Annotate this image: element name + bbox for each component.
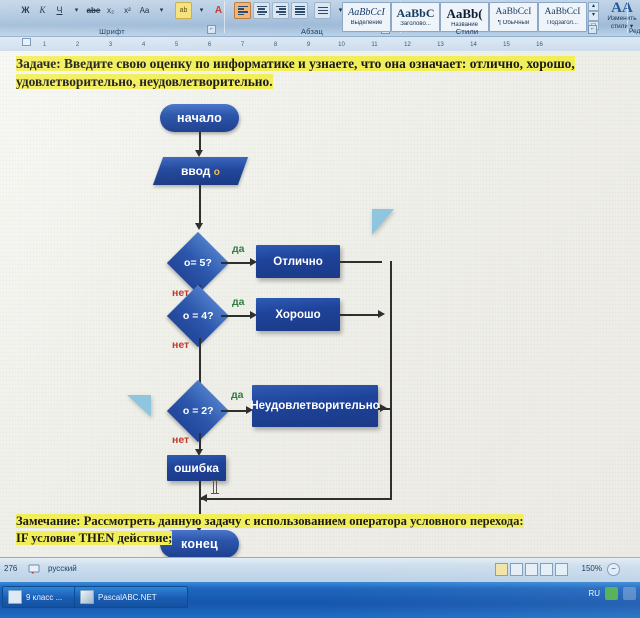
change-styles-icon: AA bbox=[600, 1, 640, 15]
document-page[interactable]: Задаче: Введите свою оценку по информати… bbox=[0, 51, 640, 557]
view-mode-buttons[interactable] bbox=[495, 563, 568, 576]
pascalabc-icon bbox=[80, 590, 94, 604]
align-center-icon[interactable] bbox=[253, 2, 270, 19]
word-count[interactable]: 276 bbox=[4, 564, 17, 573]
ribbon-group-label-styles: Стили bbox=[342, 27, 592, 36]
style-label: ¶ Обычный bbox=[498, 20, 529, 26]
tray-status-icon[interactable] bbox=[605, 587, 618, 600]
ruler-tick-10: 10 bbox=[325, 42, 358, 48]
connector-start-to-input bbox=[199, 132, 201, 152]
ruler-tick-1: 1 bbox=[28, 42, 61, 48]
edge-label-yes-3: да bbox=[231, 389, 244, 401]
arrowhead-right-icon bbox=[378, 310, 385, 318]
taskbar: 9 класс ... PascalABC.NET RU bbox=[0, 582, 640, 618]
font-dialog-launcher-icon[interactable]: ⌐ bbox=[207, 25, 216, 34]
subscript-icon[interactable]: x₂ bbox=[103, 3, 118, 18]
flow-node-unsatisfactory[interactable]: Неудовлетворительно bbox=[252, 385, 378, 427]
ruler-tick-9: 9 bbox=[292, 42, 325, 48]
ribbon-group-label-editing: Ред bbox=[629, 28, 640, 35]
connector-excellent-to-merge bbox=[340, 261, 382, 263]
ruler-tick-11: 11 bbox=[358, 42, 391, 48]
callout-none-matched-tail-icon bbox=[127, 395, 151, 417]
task-prefix: Задаче: bbox=[16, 56, 64, 71]
arrowhead-down-icon bbox=[195, 223, 203, 230]
callout-choice-tail-icon bbox=[372, 209, 394, 235]
connector-decision3-yes bbox=[221, 410, 249, 412]
scroll-up-icon[interactable]: ▴ bbox=[588, 2, 599, 11]
edge-label-yes-2: да bbox=[232, 296, 245, 308]
flow-node-good-label: Хорошо bbox=[275, 309, 320, 321]
scroll-down-icon[interactable]: ▾ bbox=[588, 11, 599, 20]
tray-network-icon[interactable] bbox=[623, 587, 636, 600]
ruler-tick-7: 7 bbox=[226, 42, 259, 48]
flow-node-error[interactable]: ошибка bbox=[167, 455, 226, 481]
taskbar-item-word[interactable]: 9 класс ... bbox=[2, 586, 82, 608]
callout-none-matched-line1: ни один bbox=[31, 115, 82, 134]
flow-node-error-label: ошибка bbox=[174, 461, 219, 475]
bold-icon[interactable]: Ж bbox=[18, 3, 33, 18]
view-full-screen-reading-icon[interactable] bbox=[510, 563, 523, 576]
ribbon-group-styles: AaBbCcI Выделение AaBbC Заголово... AaBb… bbox=[402, 0, 627, 36]
connector-good-to-merge bbox=[340, 314, 382, 316]
align-right-icon[interactable] bbox=[272, 2, 289, 19]
ruler-tick-5: 5 bbox=[160, 42, 193, 48]
proofing-errors-icon[interactable] bbox=[28, 563, 41, 575]
edge-label-no-2: нет bbox=[172, 339, 189, 351]
italic-icon[interactable]: К bbox=[35, 3, 50, 18]
style-sample: AaBbCcI bbox=[545, 8, 581, 18]
flow-node-start-label: начало bbox=[177, 111, 222, 125]
style-label: Выделение bbox=[351, 20, 383, 26]
flow-node-input[interactable]: ввод о bbox=[153, 157, 248, 185]
arrowhead-left-icon bbox=[200, 494, 207, 502]
connector-decision2-yes bbox=[221, 315, 253, 317]
taskbar-item-pascalabc-label: PascalABC.NET bbox=[98, 593, 157, 602]
style-sample: AaBbC bbox=[396, 7, 434, 19]
ruler-marks: 1 2 3 4 5 6 7 8 9 10 11 12 13 14 15 16 bbox=[28, 37, 556, 52]
word-icon bbox=[8, 590, 22, 604]
view-print-layout-icon[interactable] bbox=[495, 563, 508, 576]
text-highlight-icon[interactable]: ab bbox=[175, 2, 192, 19]
status-bar: 276 русский 150% − bbox=[0, 557, 640, 583]
ruler-tick-16: 16 bbox=[523, 42, 556, 48]
view-outline-icon[interactable] bbox=[540, 563, 553, 576]
connector-merge-bus bbox=[390, 261, 392, 499]
connector-decision2-no bbox=[199, 338, 201, 387]
view-draft-icon[interactable] bbox=[555, 563, 568, 576]
taskbar-item-pascalabc[interactable]: PascalABC.NET bbox=[74, 586, 188, 608]
language-indicator[interactable]: русский bbox=[48, 564, 77, 573]
underline-icon[interactable]: Ч bbox=[52, 3, 67, 18]
ruler-tick-14: 14 bbox=[457, 42, 490, 48]
flow-node-excellent[interactable]: Отлично bbox=[256, 245, 340, 278]
callout-none-matched-line2: вариант не bbox=[21, 134, 92, 153]
connector-merge-to-end bbox=[200, 498, 392, 500]
flow-node-excellent-label: Отлично bbox=[273, 256, 322, 268]
callout-none-matched-line3: подошел bbox=[27, 153, 85, 172]
ribbon-divider bbox=[224, 1, 225, 33]
change-case-icon[interactable]: Aa bbox=[137, 3, 152, 18]
arrowhead-right-icon bbox=[380, 404, 387, 412]
taskbar-item-word-label: 9 класс ... bbox=[26, 593, 62, 602]
flow-node-decision-2-label: о = 2? bbox=[183, 405, 214, 417]
connector-decision1-yes bbox=[221, 262, 253, 264]
ruler-tick-3: 3 bbox=[94, 42, 127, 48]
ruler-tick-15: 15 bbox=[490, 42, 523, 48]
flow-node-input-variable: о bbox=[214, 167, 220, 178]
flow-node-decision-2[interactable]: о = 2? bbox=[167, 380, 229, 442]
ruler-tick-2: 2 bbox=[61, 42, 94, 48]
text-cursor-ibeam-icon bbox=[213, 480, 217, 494]
edge-label-yes-1: да bbox=[232, 243, 245, 255]
ruler-tick-12: 12 bbox=[391, 42, 424, 48]
flow-node-good[interactable]: Хорошо bbox=[256, 298, 340, 331]
chevron-down-icon[interactable]: ▾ bbox=[194, 3, 209, 18]
line-spacing-icon[interactable] bbox=[314, 2, 331, 19]
ribbon-toolbar: Ж К Ч ▾ abe x₂ x² Aa ▾ ab ▾ A ▾ Шрифт ⌐ bbox=[0, 0, 640, 36]
flow-node-input-label: ввод bbox=[181, 164, 210, 178]
task-paragraph: Задаче: Введите свою оценку по информати… bbox=[16, 55, 624, 91]
ribbon-divider bbox=[627, 1, 628, 33]
flow-node-unsatisfactory-label: Неудовлетворительно bbox=[250, 400, 379, 412]
strikethrough-icon[interactable]: abe bbox=[86, 3, 101, 18]
style-sample: AaBb( bbox=[446, 7, 482, 20]
arrowhead-down-icon bbox=[195, 150, 203, 157]
edge-label-no-3: нет bbox=[172, 434, 189, 446]
change-styles-line1: Изменить bbox=[600, 15, 640, 23]
ruler-tick-6: 6 bbox=[193, 42, 226, 48]
flow-node-decision-4-label: о = 4? bbox=[183, 310, 214, 322]
connector-input-to-decision1 bbox=[199, 185, 201, 225]
system-tray[interactable]: RU bbox=[588, 587, 636, 600]
flow-node-decision-5-label: о= 5? bbox=[184, 257, 212, 269]
ribbon-group-label-font: Шрифт bbox=[0, 27, 224, 36]
note-line-2: IF условие THEN действие; bbox=[16, 531, 172, 545]
tray-language-label[interactable]: RU bbox=[588, 589, 600, 598]
zoom-level[interactable]: 150% bbox=[582, 564, 602, 573]
justify-icon[interactable] bbox=[291, 2, 308, 19]
ruler-tick-13: 13 bbox=[424, 42, 457, 48]
task-text: Введите свою оценку по информатике и узн… bbox=[16, 56, 575, 89]
ruler-tick-8: 8 bbox=[259, 42, 292, 48]
ruler-tick-4: 4 bbox=[127, 42, 160, 48]
flow-node-start[interactable]: начало bbox=[160, 104, 239, 132]
view-web-layout-icon[interactable] bbox=[525, 563, 538, 576]
note-paragraph: Замечание: Рассмотреть данную задачу с и… bbox=[16, 513, 624, 547]
superscript-icon[interactable]: x² bbox=[120, 3, 135, 18]
ribbon-group-font: Ж К Ч ▾ abe x₂ x² Aa ▾ ab ▾ A ▾ Шрифт ⌐ bbox=[0, 0, 224, 36]
note-line-1: Замечание: Рассмотреть данную задачу с и… bbox=[16, 514, 524, 528]
style-sample: AaBbCcI bbox=[496, 8, 532, 18]
style-label: Подзагол... bbox=[547, 20, 578, 26]
styles-dialog-launcher-icon[interactable]: ⌐ bbox=[588, 25, 597, 34]
style-sample: AaBbCcI bbox=[348, 8, 385, 18]
callout-none-matched[interactable]: ни один вариант не подошел bbox=[0, 103, 113, 184]
zoom-out-button[interactable]: − bbox=[607, 563, 620, 576]
chevron-down-icon[interactable]: ▾ bbox=[69, 3, 84, 18]
align-left-icon[interactable] bbox=[234, 2, 251, 19]
chevron-down-icon[interactable]: ▾ bbox=[154, 3, 169, 18]
